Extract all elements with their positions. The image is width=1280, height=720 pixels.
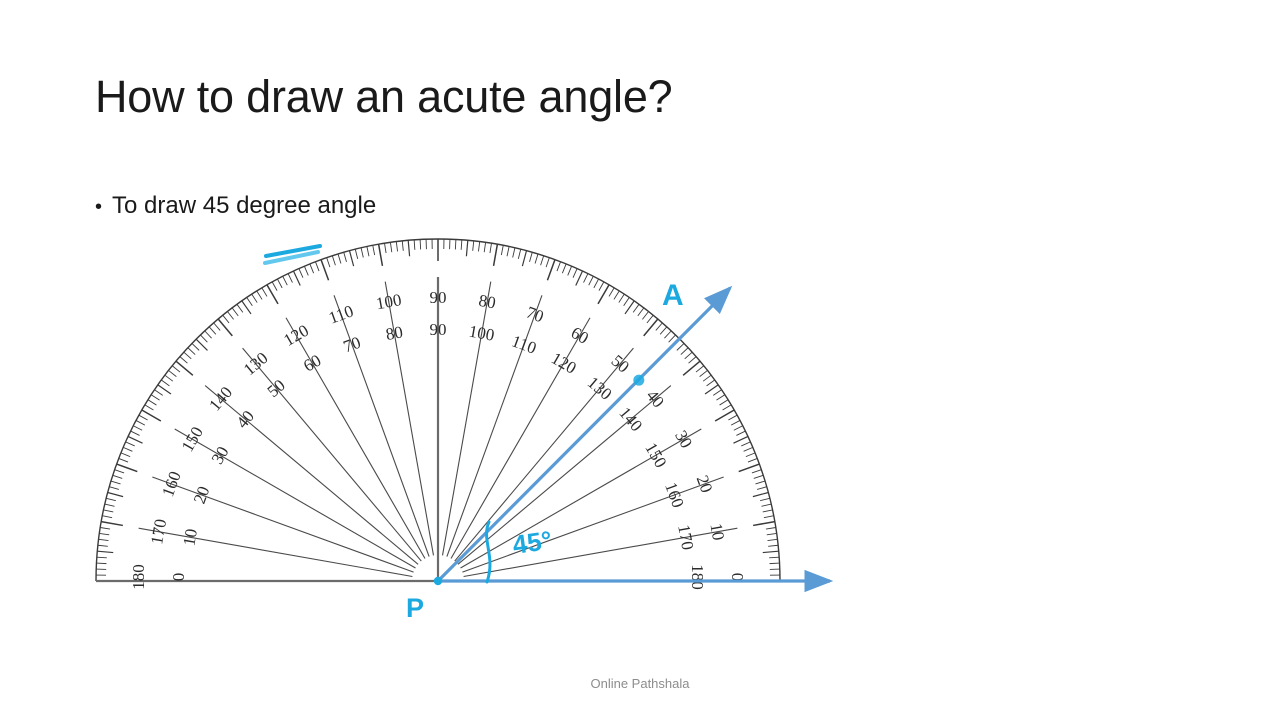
scale-number-outer: 50 xyxy=(608,351,633,376)
scale-number-outer: 70 xyxy=(524,303,546,327)
scale-number-outer: 140 xyxy=(205,383,236,415)
scale-number-outer: 170 xyxy=(147,518,170,546)
scale-number-inner: 50 xyxy=(264,376,289,401)
scale-number-inner: 0 xyxy=(169,573,188,582)
scale-number-outer: 60 xyxy=(568,323,592,348)
measurement-mark xyxy=(633,375,644,386)
scale-number-inner: 170 xyxy=(674,523,697,551)
scale-number-inner: 70 xyxy=(341,333,363,357)
scale-number-outer: 130 xyxy=(240,348,272,379)
scale-number-inner: 120 xyxy=(548,349,580,378)
scale-number-inner: 60 xyxy=(300,351,324,376)
scale-number-inner: 80 xyxy=(384,322,404,344)
scale-number-outer: 80 xyxy=(477,291,497,313)
scale-number-inner: 140 xyxy=(615,403,646,435)
scale-number-outer: 100 xyxy=(375,290,403,313)
scale-number-outer: 180 xyxy=(129,564,148,590)
scale-number-inner: 90 xyxy=(430,320,447,339)
scale-number-inner: 150 xyxy=(641,439,670,471)
scale-number-outer: 30 xyxy=(671,427,696,451)
scale-number-outer: 40 xyxy=(643,386,668,411)
scale-number-outer: 120 xyxy=(280,321,312,350)
vertex-label-p: P xyxy=(406,593,424,623)
scale-number-inner: 30 xyxy=(208,443,233,467)
scale-number-inner: 20 xyxy=(190,484,214,506)
scale-number-inner: 160 xyxy=(661,480,688,510)
scale-number-outer: 150 xyxy=(178,423,207,455)
scale-number-inner: 180 xyxy=(688,564,707,590)
scale-number-inner: 40 xyxy=(233,407,258,432)
scale-number-outer: 160 xyxy=(158,469,185,499)
scale-number-outer: 110 xyxy=(326,301,356,327)
scale-number-inner: 110 xyxy=(509,331,539,357)
handwritten-annotations: AP45° xyxy=(265,246,684,623)
scale-number-outer: 20 xyxy=(693,473,717,495)
protractor-diagram: 0102030405060708090100110120130140150160… xyxy=(0,0,1280,720)
angle-measure-label: 45° xyxy=(511,525,554,560)
ray-endpoint-label-a: A xyxy=(662,279,684,312)
scale-number-inner: 100 xyxy=(467,322,495,345)
scale-number-outer: 10 xyxy=(706,522,728,542)
scale-number-inner: 130 xyxy=(584,373,616,404)
scale-number-outer: 90 xyxy=(430,288,447,307)
vertex-point xyxy=(434,577,442,585)
protractor-figure: 0102030405060708090100110120130140150160… xyxy=(0,0,1280,720)
scale-number-inner: 10 xyxy=(179,527,201,547)
